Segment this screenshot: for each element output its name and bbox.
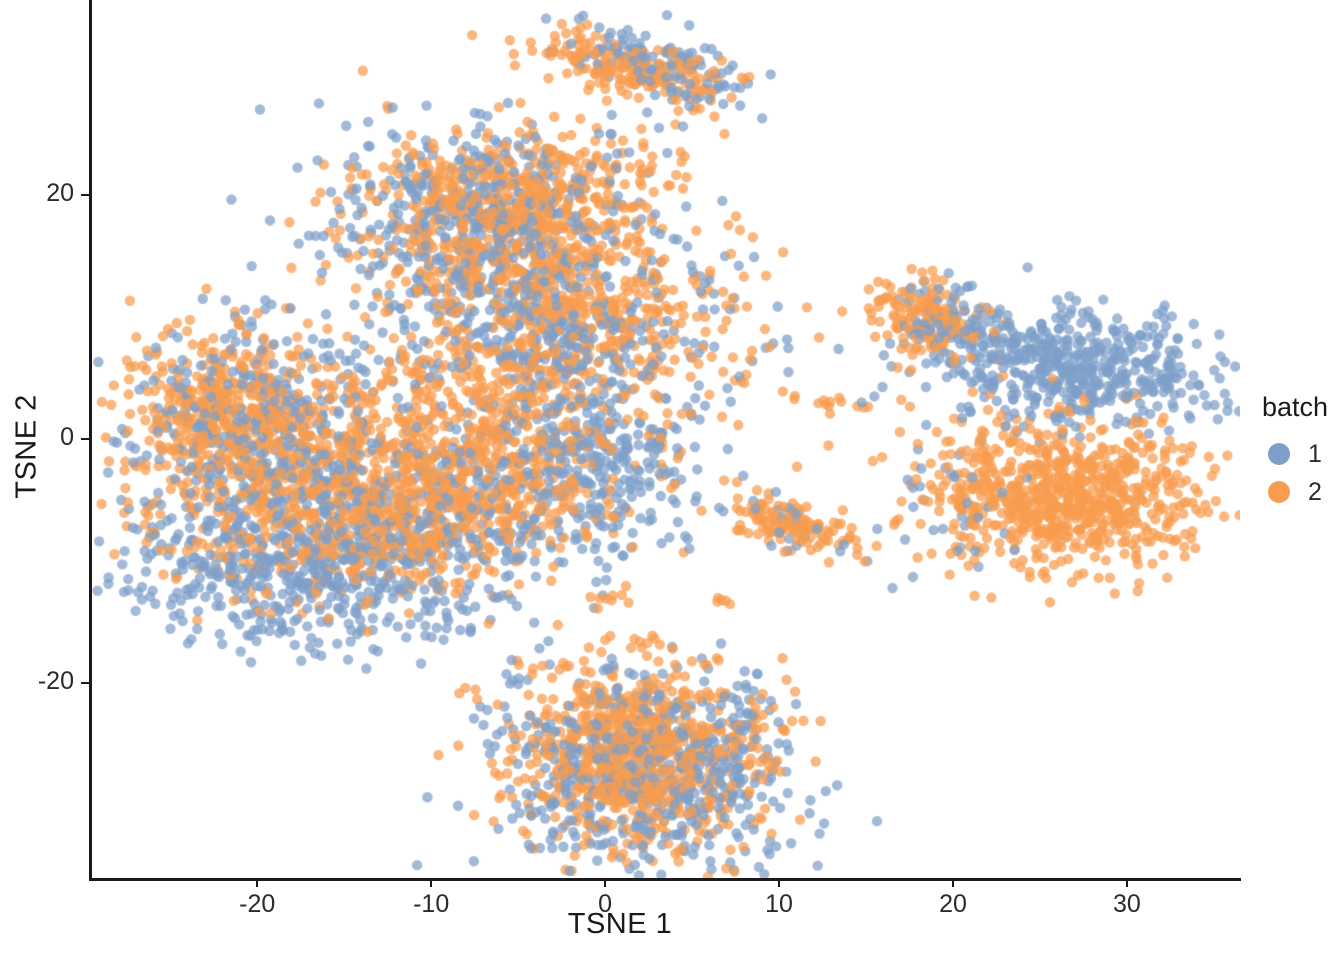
y-axis-line xyxy=(89,0,92,880)
legend-entries: 12 xyxy=(1262,435,1342,511)
legend-title: batch xyxy=(1262,392,1342,423)
legend-item-1[interactable]: 1 xyxy=(1262,435,1342,473)
y-tick-label: -20 xyxy=(0,667,74,696)
y-axis-title: TSNE 2 xyxy=(11,237,44,657)
legend-item-2[interactable]: 2 xyxy=(1262,473,1342,511)
scatter-points-layer xyxy=(92,0,1240,878)
plot-panel xyxy=(92,0,1240,878)
x-tick-mark xyxy=(430,878,432,887)
legend-item-label: 2 xyxy=(1308,478,1322,507)
x-axis-title: TSNE 1 xyxy=(0,908,1240,941)
x-tick-mark xyxy=(952,878,954,887)
legend-key-dot-icon xyxy=(1268,443,1290,465)
x-tick-mark xyxy=(256,878,258,887)
tsne-scatter-plot: -20-100102030 200-20 TSNE 1 TSNE 2 batch… xyxy=(0,0,1344,960)
legend-key-dot-icon xyxy=(1268,481,1290,503)
y-tick-mark xyxy=(81,194,90,196)
x-tick-mark xyxy=(778,878,780,887)
y-tick-mark xyxy=(81,438,90,440)
y-tick-label: 20 xyxy=(0,179,74,208)
legend-item-label: 1 xyxy=(1308,440,1322,469)
y-tick-mark xyxy=(81,682,90,684)
x-tick-mark xyxy=(604,878,606,887)
x-tick-mark xyxy=(1126,878,1128,887)
x-axis-line xyxy=(89,878,1241,881)
legend: batch 12 xyxy=(1262,392,1342,511)
